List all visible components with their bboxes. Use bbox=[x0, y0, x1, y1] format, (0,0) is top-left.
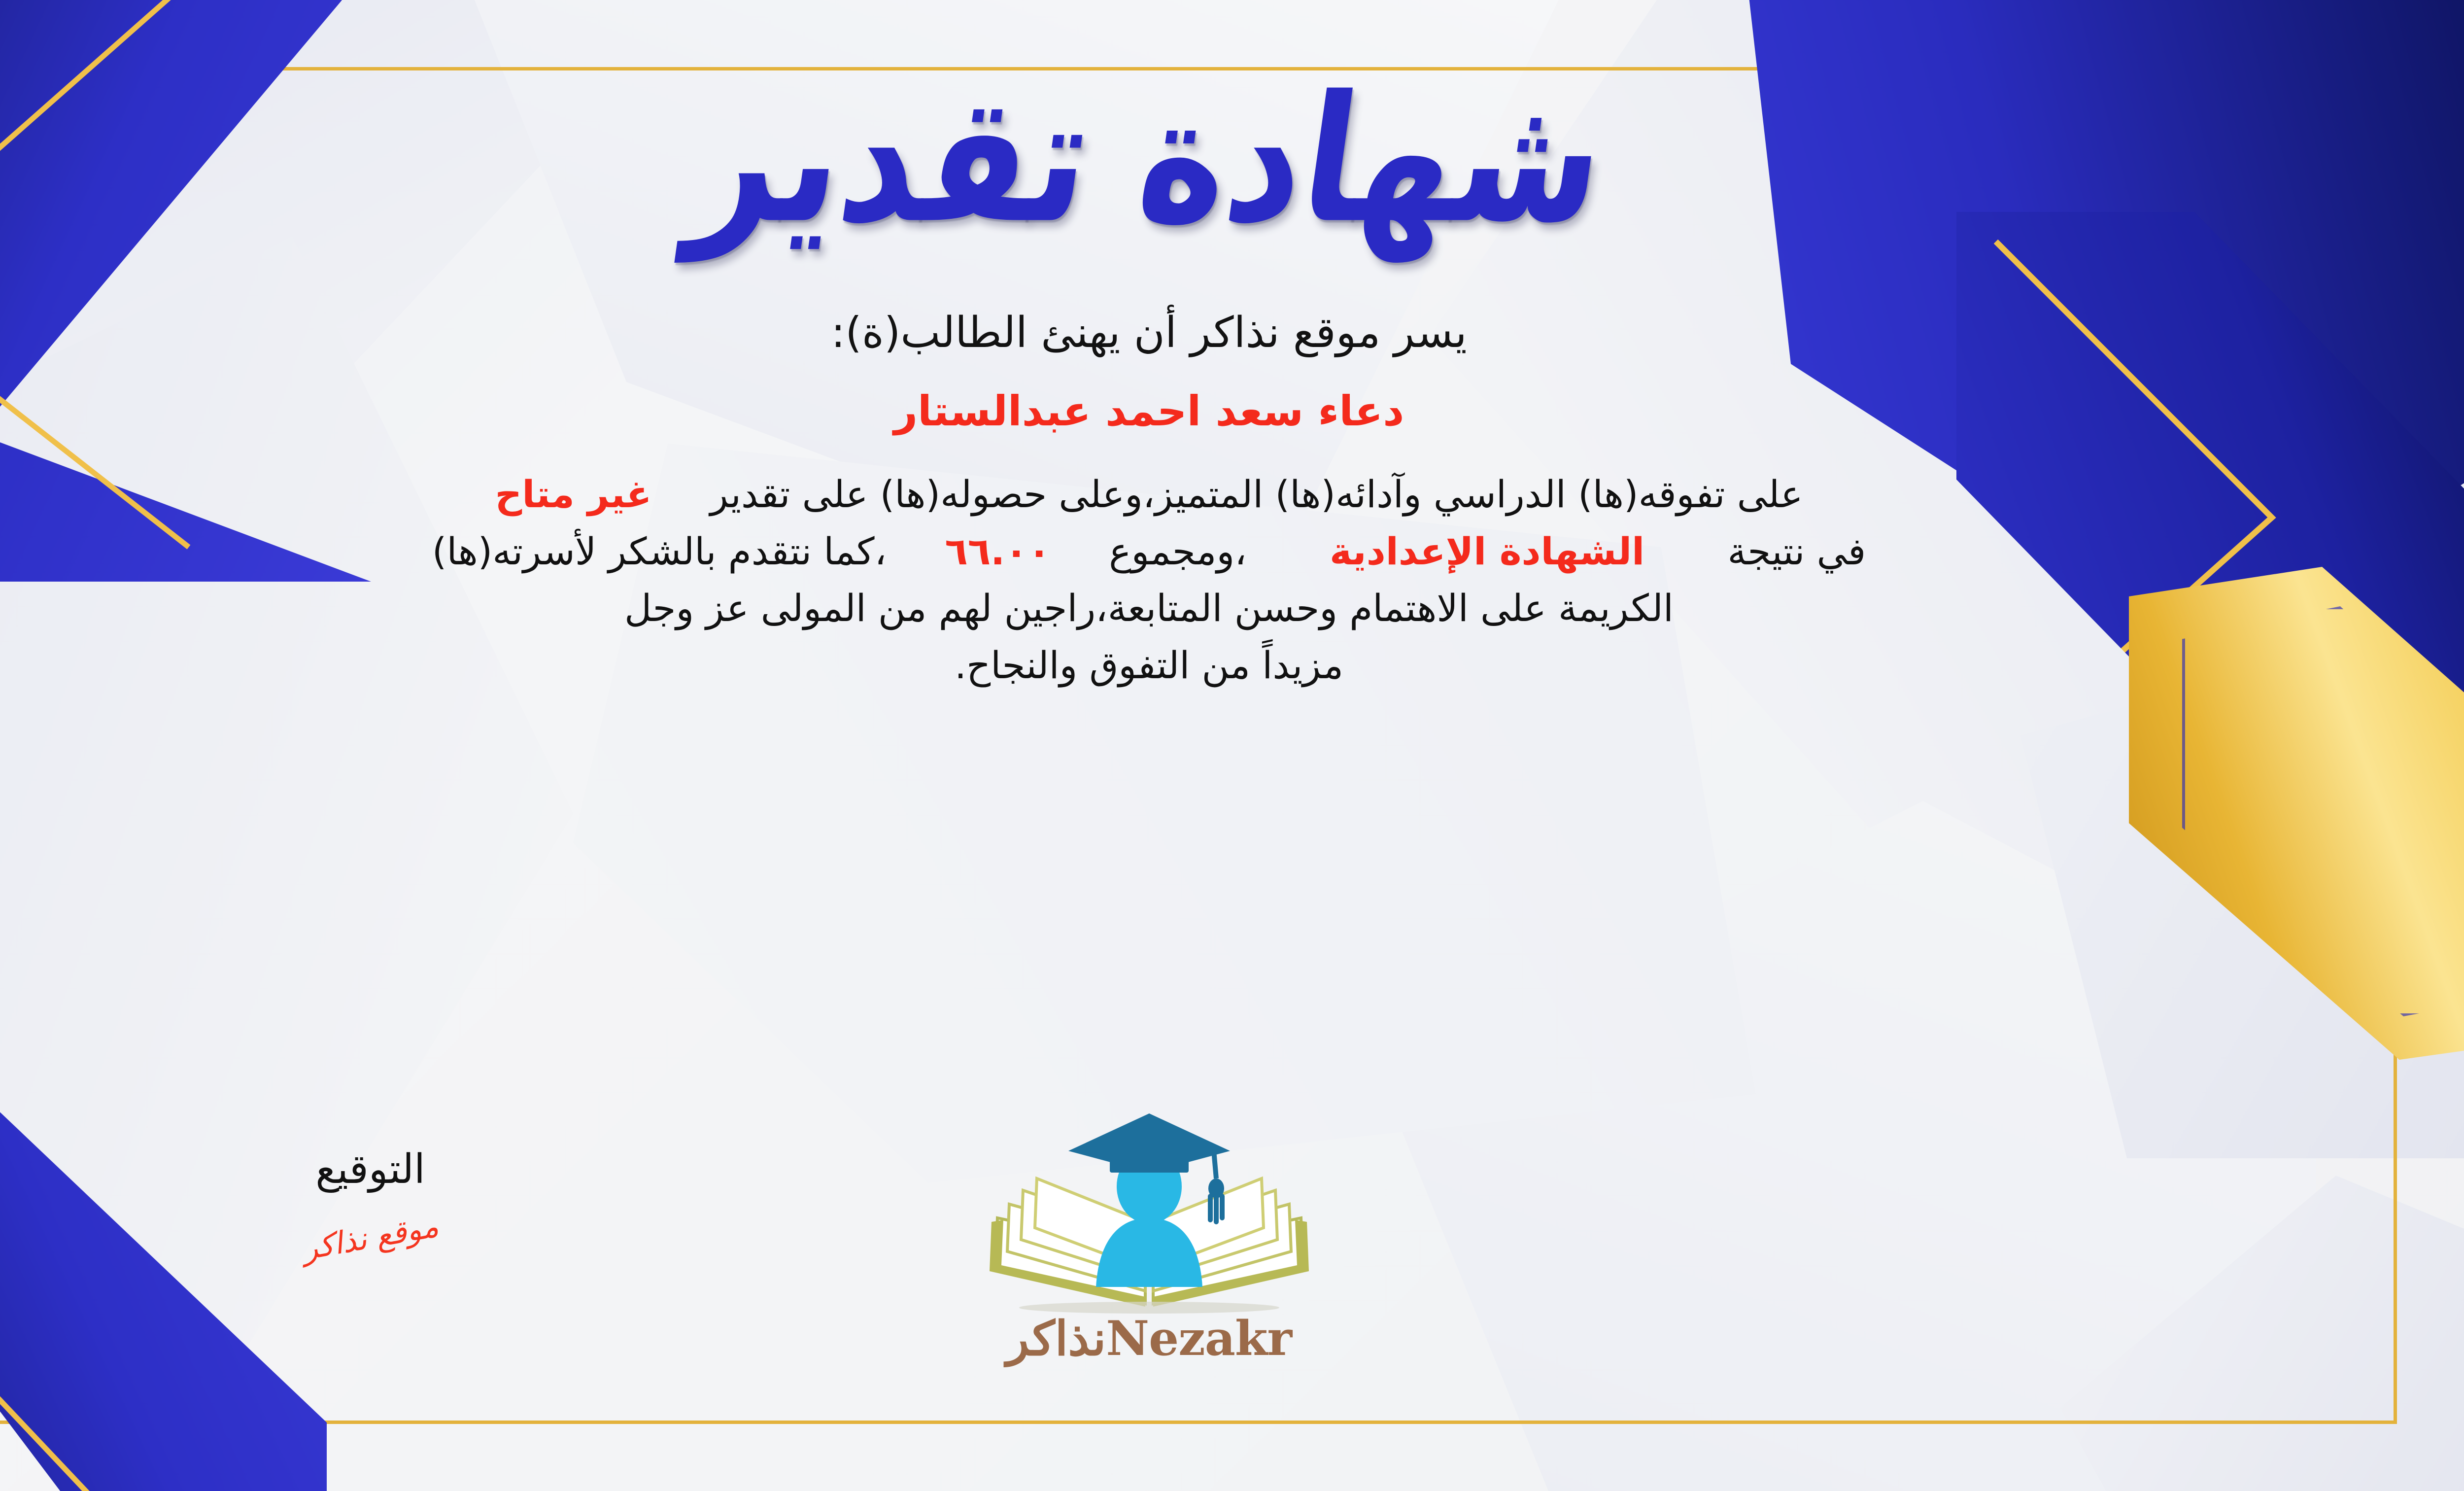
signature-script: موقع نذاكر bbox=[208, 1192, 533, 1283]
exam-name-value: الشهادة الإعدادية bbox=[1330, 529, 1644, 573]
grade-value: غير متاح bbox=[495, 472, 651, 516]
certificate-footer: التوقيع موقع نذاكر bbox=[0, 1102, 2464, 1407]
body-line-1-text: على تفوقه(ها) الدراسي وآدائه(ها) المتميز… bbox=[710, 472, 1803, 516]
logo-wordmark: Nezakrنذاكر bbox=[962, 1311, 1336, 1366]
nezakr-logo: Nezakrنذاكر bbox=[962, 1102, 1336, 1366]
certificate-title: شهادة تقدير bbox=[683, 73, 1615, 247]
body-line-2: في نتيجة الشهادة الإعدادية ،ومجموع ٦٦.٠٠… bbox=[11, 523, 2288, 580]
body-line-3: الكريمة على الاهتمام وحسن المتابعة،راجين… bbox=[11, 580, 2288, 637]
certificate-body: على تفوقه(ها) الدراسي وآدائه(ها) المتميز… bbox=[11, 466, 2288, 693]
body-line-1: على تفوقه(ها) الدراسي وآدائه(ها) المتميز… bbox=[11, 466, 2288, 523]
body-line-2-total-label: ،ومجموع bbox=[1109, 529, 1247, 573]
body-line-4: مزيداً من التفوق والنجاح. bbox=[11, 637, 2288, 694]
signature-label: التوقيع bbox=[208, 1146, 532, 1193]
body-line-2-prefix: في نتيجة bbox=[1728, 529, 1866, 573]
body-line-2-suffix: ،كما نتقدم بالشكر لأسرته(ها) bbox=[432, 529, 887, 573]
signature-area: التوقيع موقع نذاكر bbox=[208, 1146, 532, 1255]
graduate-book-logo-icon bbox=[962, 1102, 1336, 1314]
total-score-value: ٦٦.٠٠ bbox=[945, 529, 1050, 573]
certificate-canvas: شهادة تقدير يسر موقع نذاكر أن يهنئ الطال… bbox=[0, 0, 2464, 1491]
greeting-line: يسر موقع نذاكر أن يهنئ الطالب(ة): bbox=[831, 308, 1467, 357]
student-name: دعاء سعد احمد عبدالستار bbox=[894, 387, 1404, 435]
